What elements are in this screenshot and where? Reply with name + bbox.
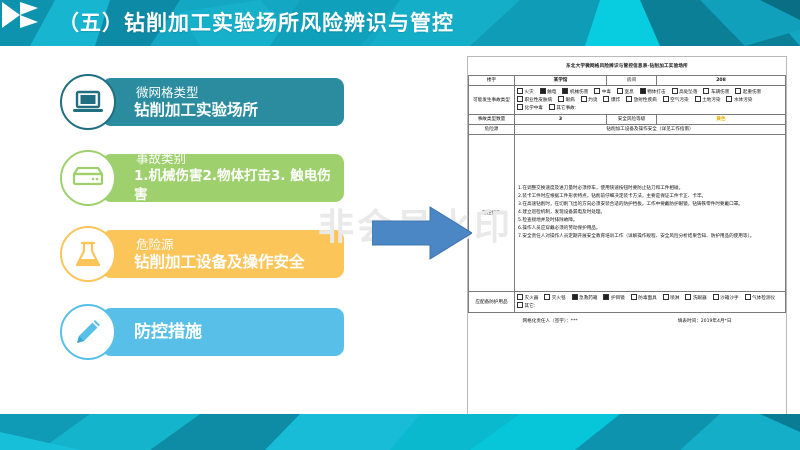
checkbox-icon[interactable] [735, 88, 741, 94]
responsible-person-signature: 网格化责任人（签字）：*** [523, 318, 578, 325]
equipment-option-1[interactable]: 灭火毯 [544, 294, 565, 302]
slide-footer-decoration [0, 414, 800, 450]
equipment-checklist[interactable]: 灭火器灭火毯急救药箱护目镜防毒面具喷淋洗眼器沙箱沙手气体检测仪其它: [515, 292, 786, 313]
checkbox-icon[interactable] [572, 294, 578, 300]
list-item-text: 微网格类型 钻削加工实验场所 [134, 78, 339, 126]
building-room-row: 楼宇 某学馆 房间 208 [469, 76, 786, 86]
checkbox-label: 灭火器 [525, 296, 539, 301]
count-risk-row: 事故类型数量 3 安全风险等级 黄色 [469, 115, 786, 125]
list-item-micro-grid-type[interactable]: 微网格类型 钻削加工实验场所 [60, 74, 350, 130]
accident-type-option-1[interactable]: 触电 [540, 88, 557, 96]
accident-type-option-7[interactable]: 车辆伤害 [703, 88, 729, 96]
measures-text: 1.在调整交换速度及进刀量时必须停车，使用快速按钮时要防止钻刀和工件相碰。2.装… [515, 135, 786, 292]
signature-area: 网格化责任人（签字）：*** 填表时间：2019年4月*日 [469, 313, 786, 330]
equipment-option-9[interactable]: 其它: [517, 302, 535, 310]
checkbox-label: 土地污染 [702, 98, 720, 103]
checkbox-label: 物体打击 [647, 90, 665, 95]
checkbox-label: 化学中毒 [525, 106, 543, 111]
hazard-label: 危险源 [469, 125, 515, 135]
checkbox-label: 高处坠落 [679, 90, 697, 95]
list-item-accident-category[interactable]: 事故类别 1.机械伤害2.物体打击3. 触电伤害 [60, 150, 350, 206]
checkbox-icon[interactable] [617, 88, 623, 94]
accident-type-option-2[interactable]: 机械伤害 [562, 88, 588, 96]
list-item-value: 钻削加工设备及操作安全 [134, 253, 339, 272]
checkbox-icon[interactable] [517, 88, 523, 94]
checkbox-icon[interactable] [544, 294, 550, 300]
room-label: 房间 [607, 76, 657, 86]
slide-header-banner: （五）钻削加工实验场所风险辨识与管控 [0, 0, 800, 46]
checkbox-label: 水体污染 [734, 98, 752, 103]
building-label: 楼宇 [469, 76, 515, 86]
checkbox-icon[interactable] [603, 96, 609, 102]
checkbox-label: 洗眼器 [693, 296, 707, 301]
risk-level-badge: 黄色 [657, 115, 786, 125]
accident-type-option-11[interactable]: 灼烫 [581, 96, 598, 104]
accident-type-option-9[interactable]: 职业性皮肤病 [517, 96, 552, 104]
checkbox-icon[interactable] [517, 302, 523, 308]
checkbox-icon[interactable] [517, 294, 523, 300]
risk-information-form: 东北大学微网格风险辨识与管控信息表-钻削加工实验场所 楼宇 某学馆 房间 208… [467, 56, 787, 416]
list-item-hazard-source[interactable]: 危险源 钻削加工设备及操作安全 [60, 226, 350, 282]
accident-type-option-3[interactable]: 中毒 [594, 88, 611, 96]
checkbox-label: 护目镜 [611, 296, 625, 301]
list-item-text: 事故类别 1.机械伤害2.物体打击3. 触电伤害 [134, 154, 339, 202]
accident-count-value: 3 [515, 115, 607, 125]
checkbox-icon[interactable] [663, 96, 669, 102]
measure-line-2: 3.在高速钻削时，在切削飞出的方向必须安装合适的防护挡板。工作中要戴防护眼镜，钻… [518, 201, 782, 208]
checkbox-icon[interactable] [640, 88, 646, 94]
checkbox-label: 火灾 [525, 90, 534, 95]
checkbox-label: 沙箱沙手 [720, 296, 738, 301]
equipment-option-8[interactable]: 气体检测仪 [745, 294, 775, 302]
list-item-sublabel: 微网格类型 [136, 85, 339, 100]
equipment-option-6[interactable]: 洗眼器 [685, 294, 706, 302]
room-value: 208 [657, 76, 786, 86]
list-item-sublabel: 事故类别 [136, 151, 339, 166]
accident-type-option-5[interactable]: 物体打击 [640, 88, 666, 96]
checkbox-icon[interactable] [549, 104, 555, 110]
equipment-option-0[interactable]: 灭火器 [517, 294, 538, 302]
accident-type-option-18[interactable]: 其它事故: [549, 104, 576, 112]
right-arrow-icon [372, 205, 472, 261]
drawer-icon [60, 150, 116, 206]
list-item-value: 防控措施 [134, 323, 339, 342]
accident-types-checklist[interactable]: 火灾触电机械伤害中毒窒息物体打击高处坠落车辆伤害起重伤害职业性皮肤病眼病灼烫爆炸… [515, 86, 786, 115]
checkbox-icon[interactable] [703, 88, 709, 94]
checkbox-label: 空气污染 [670, 98, 688, 103]
checkbox-icon[interactable] [517, 104, 523, 110]
accident-type-option-14[interactable]: 空气污染 [663, 96, 689, 104]
form-title: 东北大学微网格风险辨识与管控信息表-钻削加工实验场所 [469, 57, 786, 76]
flask-icon [60, 226, 116, 282]
checkbox-label: 触电 [547, 90, 556, 95]
accident-types-label: 可能发生事故类型 [469, 86, 515, 115]
checkbox-label: 窒息 [625, 90, 634, 95]
measure-line-0: 1.在调整交换速度及进刀量时必须停车，使用快速按钮时要防止钻刀和工件相碰。 [518, 185, 782, 192]
accident-type-option-13[interactable]: 放射性疾病 [626, 96, 656, 104]
checkbox-icon[interactable] [594, 88, 600, 94]
equipment-label: 应配备防护用品 [469, 292, 515, 313]
list-item-control-measures[interactable]: 防控措施 [60, 304, 350, 360]
accident-count-label: 事故类型数量 [469, 115, 515, 125]
accident-type-option-4[interactable]: 窒息 [617, 88, 634, 96]
checkbox-icon[interactable] [540, 88, 546, 94]
accident-type-option-17[interactable]: 化学中毒 [517, 104, 543, 112]
accident-type-option-12[interactable]: 爆炸 [603, 96, 620, 104]
checkbox-label: 机械伤害 [570, 90, 588, 95]
list-item-sublabel: 危险源 [136, 237, 339, 252]
slide: （五）钻削加工实验场所风险辨识与管控 非会员水印 微网格类型 钻削加工实验场所 [0, 0, 800, 450]
checkbox-icon[interactable] [581, 96, 587, 102]
measure-line-3: 4.建立巡检机制，发现设备漏电及时处理。 [518, 209, 782, 216]
checkbox-label: 职业性皮肤病 [525, 98, 553, 103]
checkbox-icon[interactable] [672, 88, 678, 94]
list-item-text: 危险源 钻削加工设备及操作安全 [134, 230, 339, 278]
accident-types-row: 可能发生事故类型 火灾触电机械伤害中毒窒息物体打击高处坠落车辆伤害起重伤害职业性… [469, 86, 786, 115]
hazard-value: 钻削加工设备及操作安全（详见工作指南） [515, 125, 786, 135]
measure-line-5: 6.操作人员应穿戴必须的劳动保护用品。 [518, 225, 782, 232]
hazard-row: 危险源 钻削加工设备及操作安全（详见工作指南） [469, 125, 786, 135]
accident-type-option-8[interactable]: 起重伤害 [735, 88, 761, 96]
checkbox-icon[interactable] [562, 88, 568, 94]
checkbox-label: 灼烫 [588, 98, 597, 103]
checkbox-label: 喷淋 [670, 296, 679, 301]
checkbox-label: 急救药箱 [579, 296, 597, 301]
form-table: 东北大学微网格风险辨识与管控信息表-钻削加工实验场所 楼宇 某学馆 房间 208… [468, 57, 786, 329]
checkbox-icon[interactable] [663, 294, 669, 300]
checkbox-icon[interactable] [745, 294, 751, 300]
equipment-option-4[interactable]: 防毒面具 [631, 294, 657, 302]
equipment-option-5[interactable]: 喷淋 [663, 294, 680, 302]
checkbox-icon[interactable] [626, 96, 632, 102]
checkbox-label: 车辆伤害 [711, 90, 729, 95]
list-item-text: 防控措施 [134, 308, 339, 356]
measures-row: 管控措施 1.在调整交换速度及进刀量时必须停车，使用快速按钮时要防止钻刀和工件相… [469, 135, 786, 292]
accident-type-option-6[interactable]: 高处坠落 [672, 88, 698, 96]
list-item-value: 1.机械伤害2.物体打击3. 触电伤害 [134, 167, 339, 205]
accident-type-option-10[interactable]: 眼病 [558, 96, 575, 104]
checkbox-icon[interactable] [713, 294, 719, 300]
measure-line-1: 2.装卡工件时应根据工件形状特点，钻削前仔细决定装卡方法，主要是保证工件卡正、卡… [518, 193, 782, 200]
checkbox-icon[interactable] [517, 96, 523, 102]
info-list: 微网格类型 钻削加工实验场所 事故类别 1.机械伤害2.物体打击3. 触电伤害 [60, 74, 360, 374]
accident-type-option-16[interactable]: 水体污染 [726, 96, 752, 104]
risk-level-label: 安全风险等级 [607, 115, 657, 125]
checkbox-icon[interactable] [558, 96, 564, 102]
checkbox-icon[interactable] [631, 294, 637, 300]
equipment-option-3[interactable]: 护目镜 [603, 294, 624, 302]
pencil-icon [60, 304, 116, 360]
form-title-row: 东北大学微网格风险辨识与管控信息表-钻削加工实验场所 [469, 57, 786, 76]
measure-line-6: 7.安全责任人对操作人员定期开展安全教育培训工作（详解操作规程、安全风险分析结果… [518, 233, 782, 240]
checkbox-icon[interactable] [603, 294, 609, 300]
checkbox-label: 气体检测仪 [752, 296, 775, 301]
checkbox-label: 防毒面具 [638, 296, 656, 301]
laptop-icon [60, 74, 116, 130]
checkbox-label: 眼病 [566, 98, 575, 103]
fill-date: 填表时间：2019年4月*日 [678, 318, 732, 325]
checkbox-label: 灭火毯 [552, 296, 566, 301]
checkbox-label: 其它: [525, 304, 536, 309]
page-title: （五）钻削加工实验场所风险辨识与管控 [58, 6, 454, 40]
building-value: 某学馆 [515, 76, 607, 86]
checkbox-icon[interactable] [685, 294, 691, 300]
play-triangles-icon [0, 0, 46, 30]
checkbox-label: 起重伤害 [743, 90, 761, 95]
list-item-value: 钻削加工实验场所 [134, 101, 339, 120]
checkbox-label: 爆炸 [611, 98, 620, 103]
measure-line-4: 5.检查接地并及时排除故障。 [518, 217, 782, 224]
checkbox-label: 其它事故: [556, 106, 576, 111]
accident-type-option-15[interactable]: 土地污染 [695, 96, 721, 104]
checkbox-label: 放射性疾病 [634, 98, 657, 103]
checkbox-icon[interactable] [726, 96, 732, 102]
equipment-row: 应配备防护用品 灭火器灭火毯急救药箱护目镜防毒面具喷淋洗眼器沙箱沙手气体检测仪其… [469, 292, 786, 313]
signature-row: 网格化责任人（签字）：*** 填表时间：2019年4月*日 [469, 313, 786, 330]
equipment-option-7[interactable]: 沙箱沙手 [713, 294, 739, 302]
equipment-option-2[interactable]: 急救药箱 [572, 294, 598, 302]
checkbox-icon[interactable] [695, 96, 701, 102]
accident-type-option-0[interactable]: 火灾 [517, 88, 534, 96]
checkbox-label: 中毒 [602, 90, 611, 95]
